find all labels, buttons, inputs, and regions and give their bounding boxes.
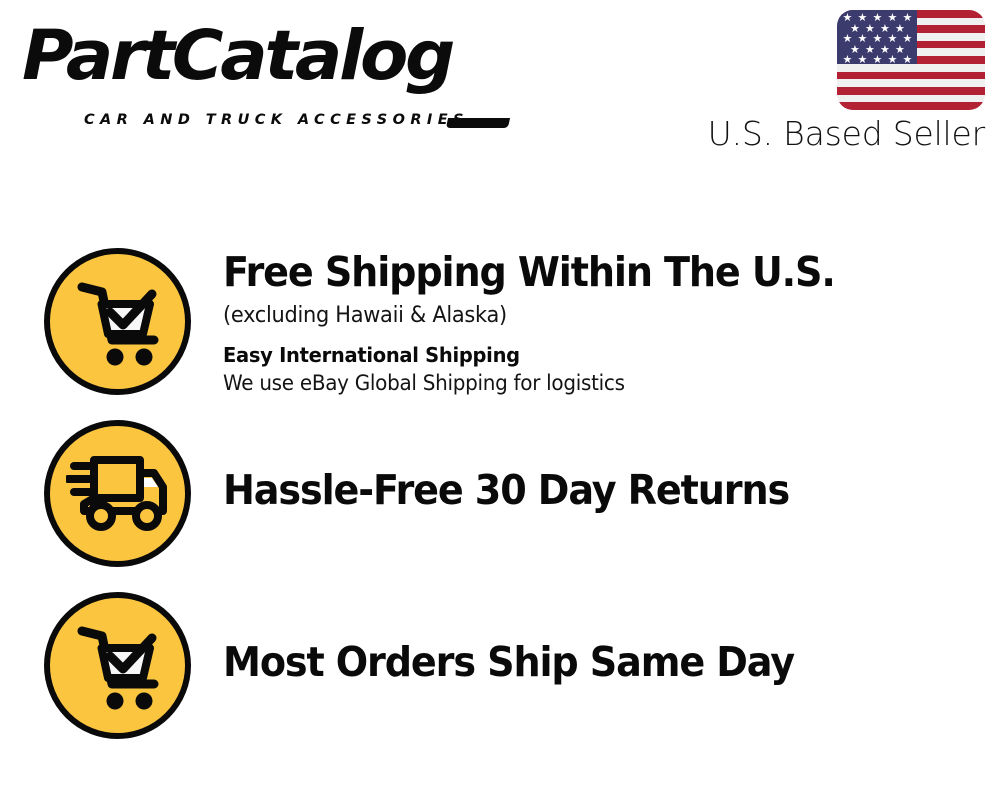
flag-stripe [837, 102, 985, 110]
feature-heading: Hassle-Free 30 Day Returns [223, 468, 931, 512]
flag-star-row: ★★★★★ [837, 55, 917, 66]
flag-star: ★ [902, 55, 911, 66]
seller-caption: U.S. Based Seller [705, 116, 985, 153]
flag-stripe [837, 79, 985, 87]
delivery-truck-icon [44, 420, 191, 567]
flag-canton: ★★★★★★★★★★★★★★★★★★★★★★★ [837, 10, 917, 64]
flag-star: ★ [857, 55, 866, 66]
flag-stripe [837, 95, 985, 103]
feature-row: Hassle-Free 30 Day Returns [44, 420, 984, 567]
brand-wordmark: PartCatalog [22, 22, 452, 91]
feature-row: Free Shipping Within The U.S. (excluding… [44, 248, 984, 397]
shopping-cart-check-icon [44, 592, 191, 739]
flag-star: ★ [842, 55, 851, 66]
brand-tagline: CAR AND TRUCK ACCESSORIES [84, 112, 469, 128]
flag-stripe [837, 72, 985, 80]
feature-row: Most Orders Ship Same Day [44, 592, 984, 739]
us-flag-icon: ★★★★★★★★★★★★★★★★★★★★★★★ [837, 10, 985, 110]
feature-subtext-small: We use eBay Global Shipping for logistic… [223, 371, 946, 397]
flag-star: ★ [872, 55, 881, 66]
feature-text: Most Orders Ship Same Day [191, 592, 984, 684]
brand-logo[interactable]: PartCatalog CAR AND TRUCK ACCESSORIES [22, 22, 492, 112]
flag-star: ★ [887, 55, 896, 66]
us-based-seller-badge: ★★★★★★★★★★★★★★★★★★★★★★★ U.S. Based Selle… [705, 10, 985, 153]
flag-stripe [837, 87, 985, 95]
brand-logo-swash [446, 118, 510, 128]
feature-heading: Most Orders Ship Same Day [223, 640, 931, 684]
shopping-cart-check-icon [44, 248, 191, 395]
feature-subtext-strong: Easy International Shipping [223, 343, 946, 368]
feature-subtext: (excluding Hawaii & Alaska) [223, 302, 946, 330]
feature-text: Free Shipping Within The U.S. (excluding… [191, 248, 984, 397]
feature-heading: Free Shipping Within The U.S. [223, 250, 931, 294]
feature-text: Hassle-Free 30 Day Returns [191, 420, 984, 512]
